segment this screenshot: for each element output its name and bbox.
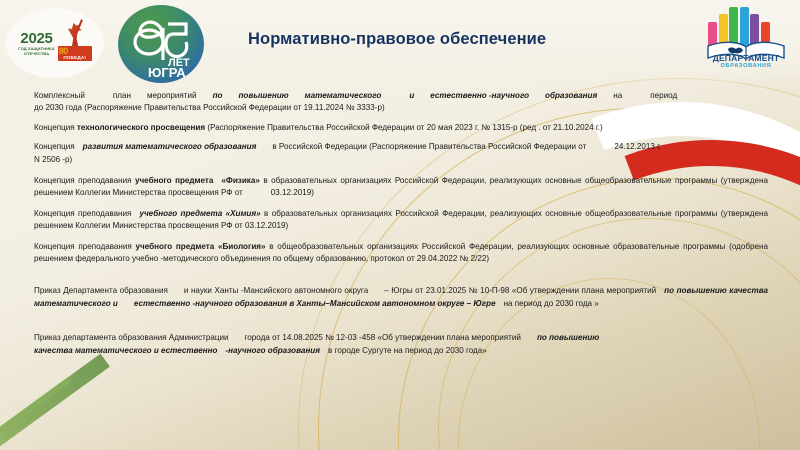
- document-item-6: Концепция преподавания учебного предмета…: [34, 241, 768, 266]
- document-item-5: Концепция преподаванияучебного предмета …: [34, 208, 768, 233]
- doc6-seg-a: Концепция преподавания: [34, 242, 132, 251]
- doc1-seg-g: и: [409, 91, 414, 100]
- document-item-7: Приказ Департамента образованияи науки Х…: [34, 285, 768, 310]
- document-item-4: Концепция преподавания учебного предмета…: [34, 175, 768, 200]
- doc1-seg-i: образования: [545, 91, 597, 100]
- doc3-seg-c: в Российской Федерации (Распоряжение Пра…: [272, 142, 586, 151]
- victory-logo-line1: ГОД ЗАЩИТНИКА: [18, 47, 54, 51]
- doc2-seg-b: технологического просвещения: [77, 123, 205, 132]
- doc2-seg-a: Концепция: [34, 123, 75, 132]
- doc3-seg-d: 24.12.2013 г.: [614, 142, 661, 151]
- document-item-8: Приказ департамента образования Админист…: [34, 332, 768, 357]
- victory-logo-line2: ОТЕЧЕСТВА: [18, 52, 54, 56]
- document-item-1: Комплексныйпланмероприятийпоповышениюмат…: [34, 90, 768, 115]
- doc1-seg-c: мероприятий: [147, 91, 197, 100]
- doc8-seg-d: качества математического и естественно: [34, 346, 217, 355]
- doc1-seg-b: план: [113, 91, 131, 100]
- department-logo-line2: ОБРАЗОВАНИЯ: [698, 64, 794, 70]
- department-logo-line1: ДЕПАРТАМЕНТ: [698, 54, 794, 63]
- department-of-education-emblem-icon: ДЕПАРТАМЕНТ ОБРАЗОВАНИЯ: [698, 2, 794, 74]
- doc1-seg-k: период: [650, 91, 677, 100]
- doc1-seg-f: математического: [305, 91, 382, 100]
- victory-80-logo: 2025 ГОД ЗАЩИТНИКА ОТЕЧЕСТВА ПОБЕДА! 80: [6, 8, 104, 78]
- doc7-seg-f: на период до 2030 года »: [504, 299, 599, 308]
- doc1-seg-e: повышению: [238, 91, 288, 100]
- motherland-calls-statue-icon: ПОБЕДА! 80: [58, 23, 92, 63]
- green-stripe-decoration: [0, 377, 71, 450]
- page-title: Нормативно-правовое обеспечение: [248, 30, 668, 49]
- doc8-seg-c: по повышению: [537, 333, 599, 342]
- slide-header: 2025 ГОД ЗАЩИТНИКА ОТЕЧЕСТВА ПОБЕДА! 80: [0, 0, 800, 86]
- doc2-seg-c: (Распоряжение Правительства Российской Ф…: [207, 123, 602, 132]
- doc8-seg-f: в городе Сургуте на период до 2030 года»: [328, 346, 487, 355]
- doc5-seg-b: учебного предмета «Химия»: [139, 209, 260, 218]
- green-stripe-decoration: [0, 354, 110, 450]
- doc7-seg-c: – Югры от 23.01.2025 № 10-П-98 «Об утвер…: [384, 286, 656, 295]
- victory-logo-year: 2025: [18, 31, 54, 46]
- doc3-seg-e: N 2506 -р): [34, 155, 72, 164]
- doc8-seg-a: Приказ департамента образования Админист…: [34, 333, 229, 342]
- doc4-seg-a: Концепция преподавания: [34, 176, 132, 185]
- document-item-3: Концепцияразвития математического образо…: [34, 141, 768, 166]
- doc7-seg-e: естественно -научного образования в Хант…: [134, 299, 496, 308]
- doc3-seg-a: Концепция: [34, 142, 75, 151]
- svg-text:ЮГРА: ЮГРА: [148, 65, 186, 80]
- doc4-seg-e: 03.12.2019): [271, 188, 314, 197]
- document-list: Комплексныйпланмероприятийпоповышениюмат…: [34, 90, 768, 357]
- doc1-seg-j: на: [613, 91, 622, 100]
- doc7-seg-b: и науки Ханты -Мансийского автономного о…: [184, 286, 368, 295]
- doc1-seg-l: до 2030 года (Распоряжение Правительства…: [34, 103, 385, 112]
- doc1-seg-h: естественно -научного: [430, 91, 529, 100]
- doc8-seg-b: города от 14.08.2025 № 12-03 -458 «Об ут…: [245, 333, 521, 342]
- doc8-seg-e: -научного образования: [225, 346, 320, 355]
- victory-anniversary-number: 80: [59, 47, 68, 56]
- ugra-95-anniversary-icon: ЛЕТ ЮГРА: [118, 5, 204, 83]
- doc4-seg-b: учебного предмета: [135, 176, 213, 185]
- doc1-seg-d: по: [213, 91, 223, 100]
- doc3-seg-b: развития математического образования: [83, 142, 257, 151]
- document-item-2: Концепция технологического просвещения (…: [34, 122, 768, 134]
- doc7-seg-a: Приказ Департамента образования: [34, 286, 168, 295]
- slide-root: 2025 ГОД ЗАЩИТНИКА ОТЕЧЕСТВА ПОБЕДА! 80: [0, 0, 800, 450]
- doc4-seg-c: «Физика»: [221, 176, 259, 185]
- doc5-seg-a: Концепция преподавания: [34, 209, 131, 218]
- doc1-seg-a: Комплексный: [34, 91, 85, 100]
- doc6-seg-b: учебного предмета «Биология»: [136, 242, 266, 251]
